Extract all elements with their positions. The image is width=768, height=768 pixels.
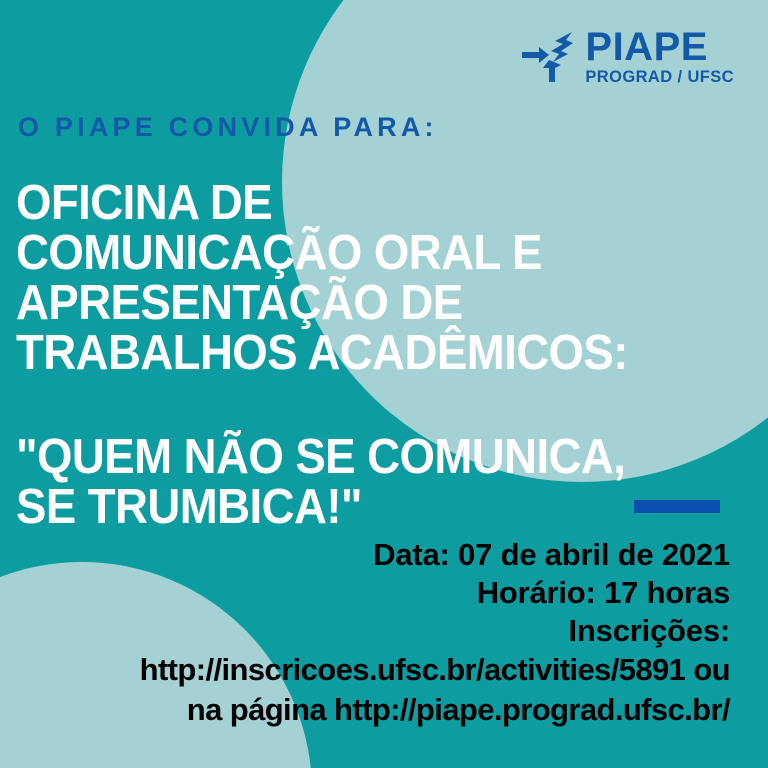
event-title-line: COMUNICAÇÃO ORAL E <box>16 228 714 278</box>
piape-logo-subtitle: PROGRAD / UFSC <box>585 69 734 86</box>
event-details: Data: 07 de abril de 2021 Horário: 17 ho… <box>30 536 730 650</box>
event-title-line: TRABALHOS ACADÊMICOS: <box>16 328 714 378</box>
event-title: OFICINA DE COMUNICAÇÃO ORAL E APRESENTAÇ… <box>16 178 766 378</box>
event-quote-line: SE TRUMBICA!" <box>16 482 723 532</box>
registration-url-primary[interactable]: http://inscricoes.ufsc.br/activities/589… <box>0 650 730 690</box>
piape-logo-word: PIAPE <box>585 28 708 66</box>
piape-logo-text: PIAPE PROGRAD / UFSC <box>585 28 734 86</box>
registration-label: Inscrições: <box>30 612 730 650</box>
event-quote: "QUEM NÃO SE COMUNICA, SE TRUMBICA!" <box>16 432 768 532</box>
registration-links: http://inscricoes.ufsc.br/activities/589… <box>0 650 730 730</box>
piape-logo: PIAPE PROGRAD / UFSC <box>522 28 734 86</box>
blue-divider-rule <box>634 500 720 513</box>
piape-arrows-mark-icon <box>522 32 576 82</box>
kicker-text: O PIAPE CONVIDA PARA: <box>18 113 438 143</box>
poster-content: PIAPE PROGRAD / UFSC O PIAPE CONVIDA PAR… <box>0 0 768 768</box>
event-quote-line: "QUEM NÃO SE COMUNICA, <box>16 432 723 482</box>
event-title-line: OFICINA DE <box>16 178 714 228</box>
event-date: Data: 07 de abril de 2021 <box>30 536 730 574</box>
poster-canvas: PIAPE PROGRAD / UFSC O PIAPE CONVIDA PAR… <box>0 0 768 768</box>
registration-url-secondary[interactable]: na página http://piape.prograd.ufsc.br/ <box>0 690 730 730</box>
event-title-line: APRESENTAÇÃO DE <box>16 278 714 328</box>
event-time: Horário: 17 horas <box>30 574 730 612</box>
